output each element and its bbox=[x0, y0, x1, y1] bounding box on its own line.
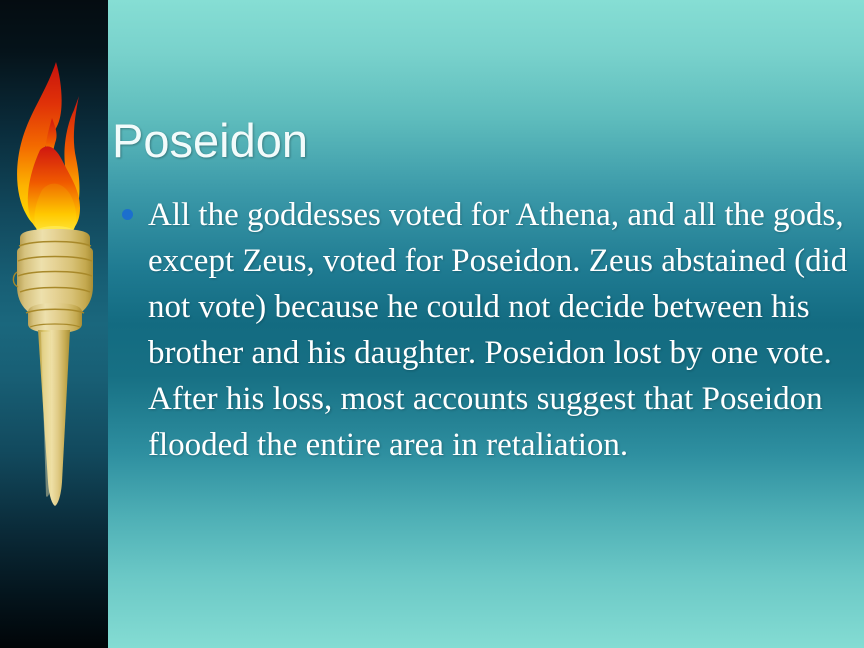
bullet-text: All the goddesses voted for Athena, and … bbox=[148, 192, 858, 468]
slide-title: Poseidon bbox=[112, 113, 812, 169]
torch-icon bbox=[0, 0, 108, 648]
presentation-slide: Poseidon All the goddesses voted for Ath… bbox=[0, 0, 864, 648]
slide-body: All the goddesses voted for Athena, and … bbox=[118, 192, 858, 468]
bullet-item: All the goddesses voted for Athena, and … bbox=[118, 192, 858, 468]
bullet-dot-icon bbox=[122, 209, 133, 220]
